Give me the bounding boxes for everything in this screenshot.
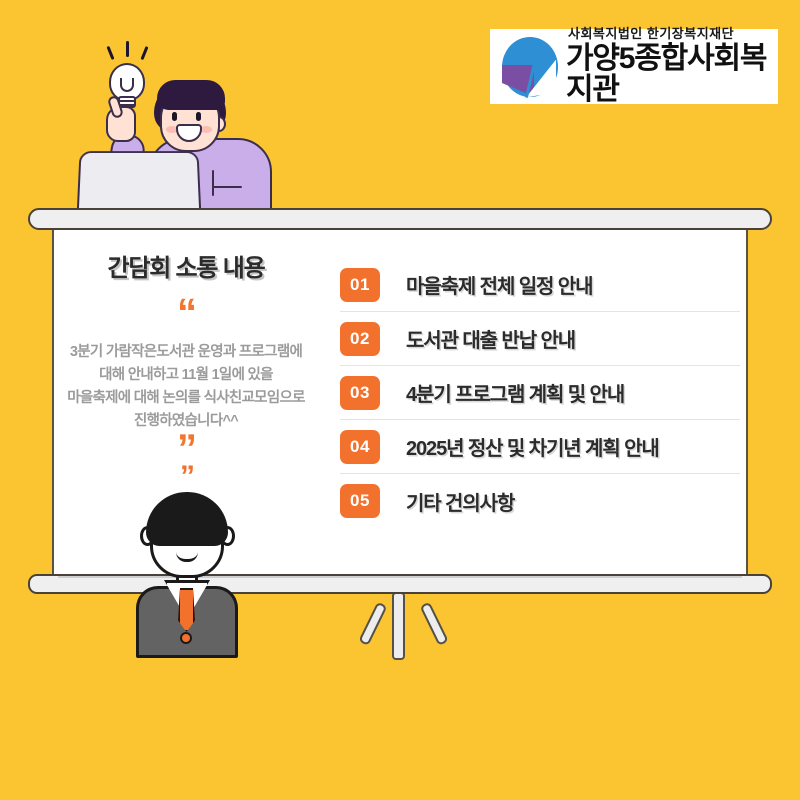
screen-stand-leg [420,602,449,646]
list-item[interactable]: 01 마을축제 전체 일정 안내 [340,258,740,312]
agenda-list: 01 마을축제 전체 일정 안내 02 도서관 대출 반납 안내 03 4분기 … [340,258,740,528]
agenda-number-badge: 03 [340,376,380,410]
agenda-item-label: 4분기 프로그램 계획 및 안내 [406,378,624,407]
summary-panel: 간담회 소통 내용 “ 3분기 가람작은도서관 운영과 프로그램에 대해 안내하… [66,248,306,461]
screen-stand-leg [358,602,387,646]
person-eye [196,112,201,121]
lightbulb-filament-icon [120,78,134,92]
idea-person-illustration [62,38,272,218]
screen-top-rail [28,208,772,230]
lightbulb-ray-icon [106,46,114,60]
suit-man-nose [184,528,194,546]
agenda-number-badge: 04 [340,430,380,464]
list-item[interactable]: 04 2025년 정산 및 차기년 계획 안내 [340,420,740,474]
agenda-item-label: 2025년 정산 및 차기년 계획 안내 [406,432,659,461]
logo-text-block: 사회복지법인 한기장복지재단 가양5종합사회복지관 [562,27,778,105]
agenda-number-badge: 01 [340,268,380,302]
quote-open-icon: “ [66,301,306,325]
agenda-number-badge: 02 [340,322,380,356]
lightbulb-base-line-icon [120,100,134,102]
lightbulb-ray-icon [126,41,129,57]
suit-man-eye [170,528,174,537]
suit-man-button [180,632,192,644]
list-item[interactable]: 05 기타 건의사항 [340,474,740,528]
infographic-canvas: 사회복지법인 한기장복지재단 가양5종합사회복지관 간담회 소통 내용 “ 3분… [0,0,800,800]
screen-stand-pole [392,592,405,660]
agenda-item-label: 마을축제 전체 일정 안내 [406,270,592,299]
logo-subtitle: 사회복지법인 한기장복지재단 [566,27,778,41]
person-sleeve-fold [212,170,214,196]
agenda-item-label: 도서관 대출 반납 안내 [406,324,575,353]
quote-close-icon: ” [66,437,306,461]
summary-text: 3분기 가람작은도서관 운영과 프로그램에 대해 안내하고 11월 1일에 있을… [66,341,306,433]
person-fringe [157,80,225,110]
page-title: 간담회 소통 내용 [66,248,306,283]
suit-man-eye [196,528,200,537]
speech-quote-icon: ” [180,468,193,486]
agenda-item-label: 기타 건의사항 [406,487,514,516]
lightbulb-ray-icon [140,46,148,60]
suit-man-illustration: ” [128,470,260,650]
person-eye [172,112,177,121]
agenda-number-badge: 05 [340,484,380,518]
organization-logo: 사회복지법인 한기장복지재단 가양5종합사회복지관 [490,29,778,104]
person-sleeve-fold [212,186,242,188]
logo-mark-icon [496,34,562,100]
list-item[interactable]: 02 도서관 대출 반납 안내 [340,312,740,366]
logo-title: 가양5종합사회복지관 [566,43,778,106]
list-item[interactable]: 03 4분기 프로그램 계획 및 안내 [340,366,740,420]
